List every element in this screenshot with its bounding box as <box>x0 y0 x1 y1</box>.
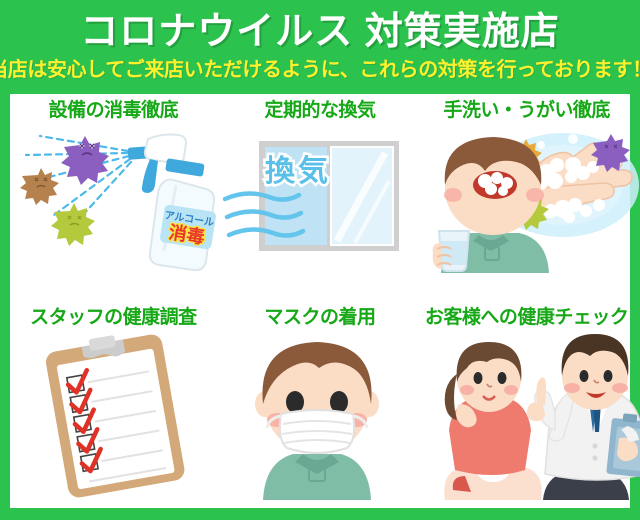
gargling-person-icon <box>433 137 549 273</box>
mask-person-illustration <box>217 330 424 508</box>
open-window-icon: 換気 <box>217 123 417 293</box>
doctor-and-customer-icon <box>423 330 640 500</box>
eye-right-icon <box>330 391 348 413</box>
doctor-customer-illustration <box>423 330 630 508</box>
germ-purple-icon <box>61 136 109 185</box>
measure-title-handwash-gargle: 手洗い・うがい徹底 <box>443 100 610 123</box>
handwash-gargle-icon <box>423 123 640 293</box>
window-illustration: 換気 <box>217 123 424 301</box>
germ-green-icon <box>51 203 95 246</box>
measure-title-staff-health-check: スタッフの健康調査 <box>30 307 197 330</box>
poster-header: コロナウイルス 対策実施店 当店は安心してご来店いただけるように、これらの対策を… <box>10 0 630 94</box>
spray-bottle-icon: アルコール 消毒 <box>10 123 220 293</box>
measure-cell-disinfection: 設備の消毒徹底 <box>10 94 217 301</box>
measure-title-disinfection: 設備の消毒徹底 <box>49 100 179 123</box>
measure-cell-staff-health-check: スタッフの健康調査 <box>10 301 217 508</box>
customer-figure-icon <box>445 342 542 500</box>
measure-cell-customer-health-check: お客様への健康チェック <box>423 301 630 508</box>
measures-row-top: 設備の消毒徹底 <box>10 94 630 301</box>
face-mask-icon <box>267 410 367 453</box>
clipboard-checklist-icon <box>10 330 220 500</box>
measure-cell-handwash-gargle: 手洗い・うがい徹底 <box>423 94 630 301</box>
measure-title-mask-wearing: マスクの着用 <box>265 307 376 330</box>
handwash-gargle-illustration <box>423 123 630 301</box>
measure-cell-ventilation: 定期的な換気 換気 <box>217 94 424 301</box>
germ-brown-icon <box>20 168 59 205</box>
measures-panel: 設備の消毒徹底 <box>10 94 630 508</box>
doctor-figure-icon <box>527 334 640 500</box>
poster-root: コロナウイルス 対策実施店 当店は安心してご来店いただけるように、これらの対策を… <box>0 0 640 520</box>
measure-title-ventilation: 定期的な換気 <box>265 100 376 123</box>
page-title: コロナウイルス 対策実施店 <box>80 12 560 53</box>
measures-row-bottom: スタッフの健康調査 <box>10 301 630 508</box>
window-text-label: 換気 <box>265 155 331 188</box>
clipboard-illustration <box>10 330 217 508</box>
measure-title-customer-health-check: お客様への健康チェック <box>425 307 629 330</box>
person-with-mask-icon <box>217 330 417 500</box>
bottle-body-icon: アルコール 消毒 <box>150 179 217 269</box>
page-subtitle: 当店は安心してご来店いただけるように、これらの対策を行っております！ <box>0 59 640 81</box>
eye-left-icon <box>286 391 304 413</box>
spray-bottle-illustration: アルコール 消毒 <box>10 123 217 301</box>
measure-cell-mask-wearing: マスクの着用 <box>217 301 424 508</box>
